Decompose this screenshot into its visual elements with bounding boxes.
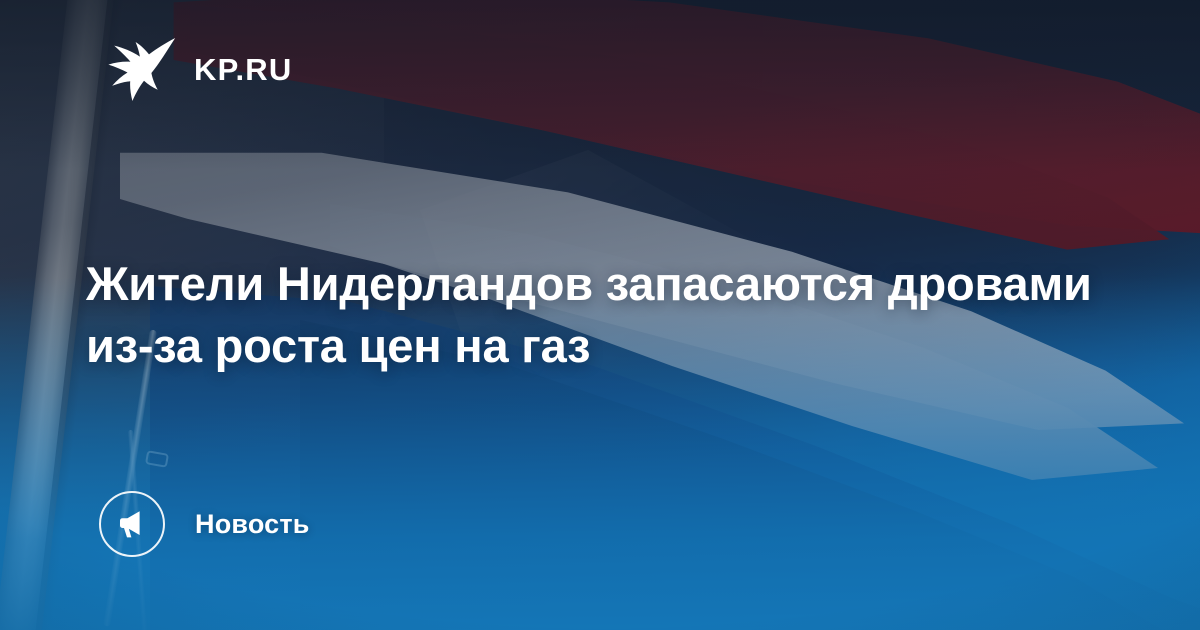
badge-label: Новость bbox=[195, 509, 310, 540]
brand-name: KP.RU bbox=[194, 54, 292, 85]
page-title: Жители Нидерландов запасаются дровами из… bbox=[86, 253, 1096, 377]
social-share-card: KP.RU Жители Нидерландов запасаются дров… bbox=[0, 0, 1200, 630]
card-content: KP.RU Жители Нидерландов запасаются дров… bbox=[0, 0, 1200, 630]
swallow-bird-icon bbox=[104, 36, 176, 102]
megaphone-icon bbox=[99, 491, 165, 557]
content-type-badge[interactable]: Новость bbox=[99, 491, 310, 557]
brand-lockup[interactable]: KP.RU bbox=[104, 36, 292, 102]
